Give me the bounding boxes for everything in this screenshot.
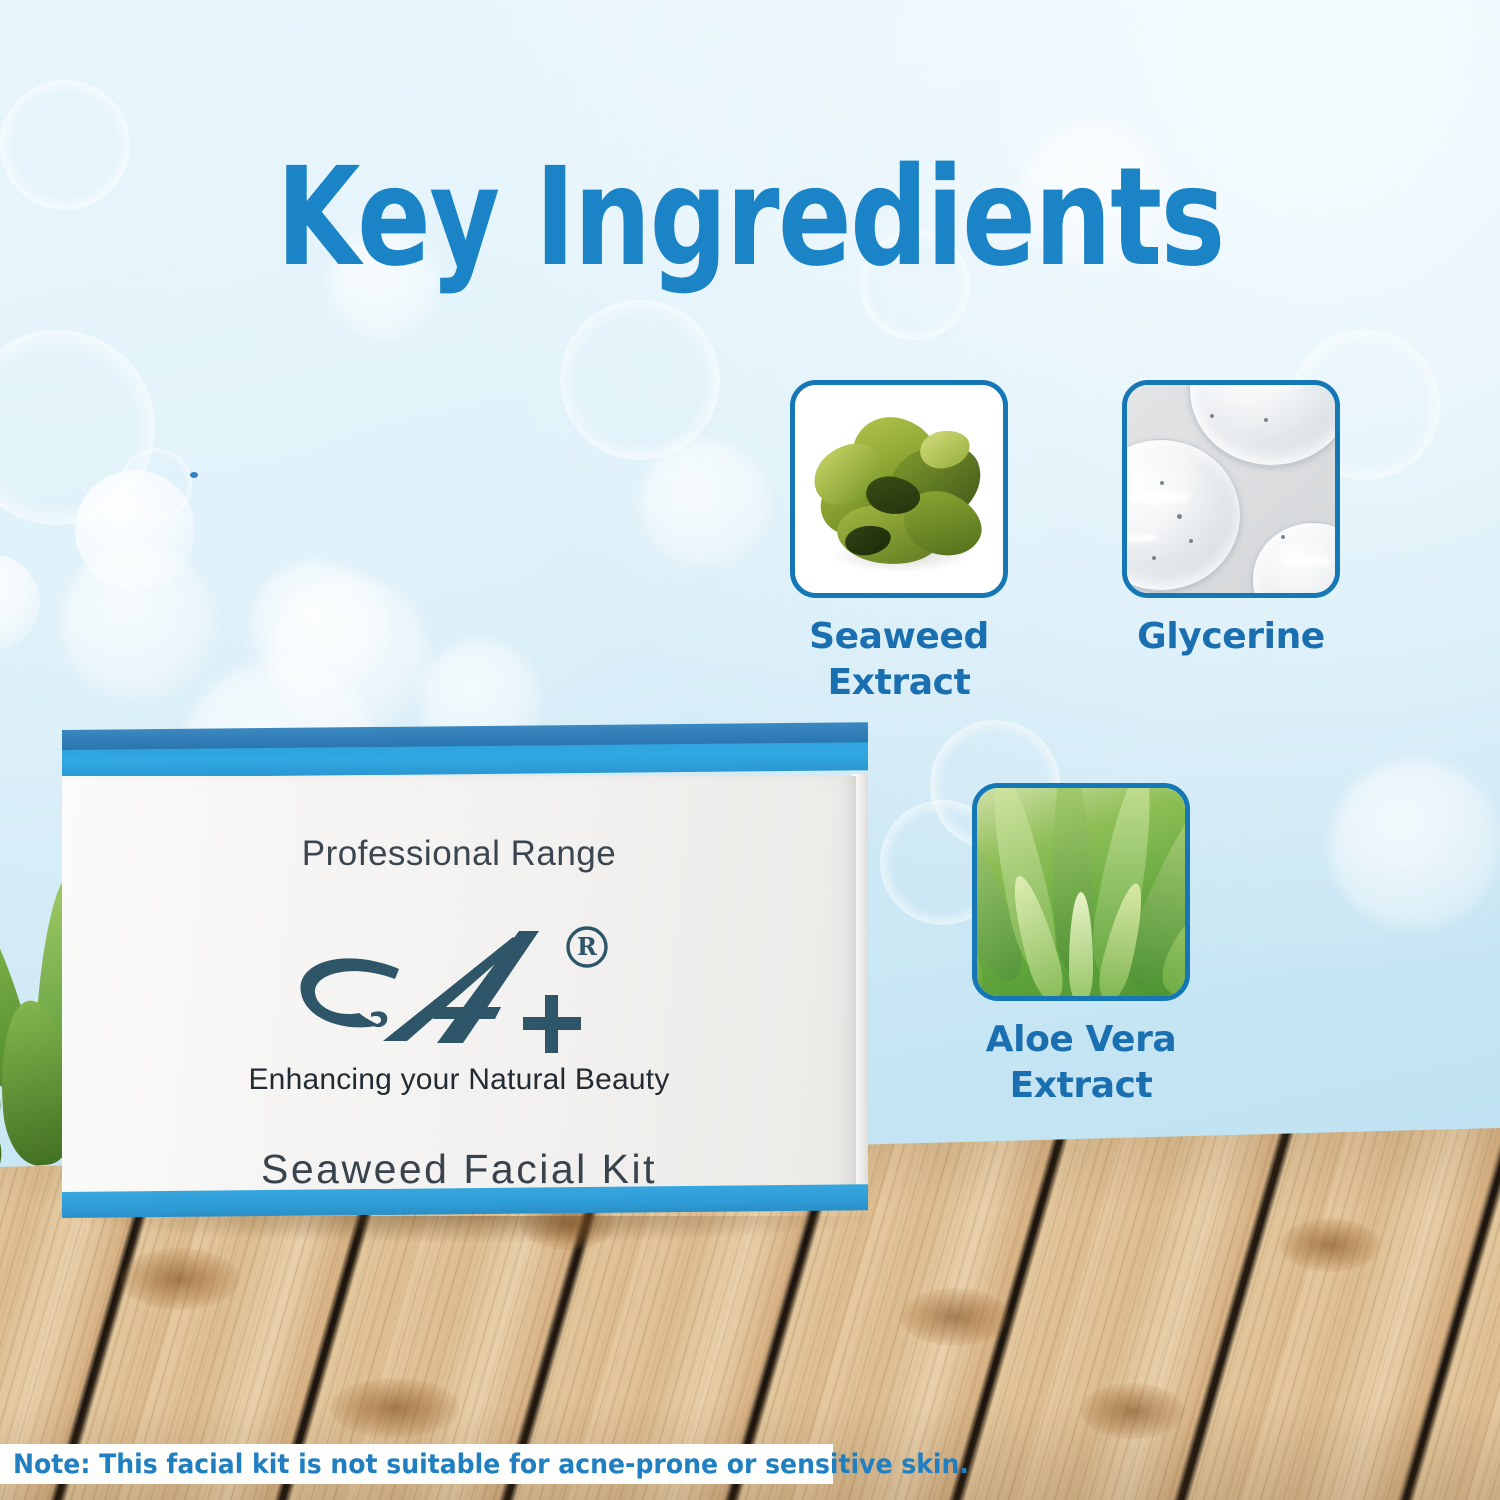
box-range-text: Professional Range <box>62 834 856 874</box>
blue-dot-artifact <box>190 472 198 478</box>
seaweed-photo-icon <box>790 380 1008 598</box>
ingredient-label-seaweed: Seaweed Extract <box>790 614 1008 706</box>
ingredient-card-seaweed[interactable]: Seaweed Extract <box>790 380 1008 706</box>
page-title: Key Ingredients <box>150 150 1350 286</box>
glycerine-photo-icon <box>1122 380 1340 598</box>
aloe-vera-photo-icon <box>972 783 1190 1001</box>
product-infographic: Key Ingredients <box>0 0 1500 1500</box>
box-product-name: Seaweed Facial Kit <box>62 1146 856 1193</box>
note-text: Note: This facial kit is not suitable fo… <box>0 1449 969 1480</box>
svg-text:R: R <box>577 932 598 961</box>
note-banner: Note: This facial kit is not suitable fo… <box>0 1444 833 1484</box>
brand-logo-icon: R <box>287 921 637 1056</box>
box-shadow <box>82 1216 872 1242</box>
box-tagline-text: Enhancing your Natural Beauty <box>62 1063 856 1097</box>
ingredient-card-aloe-vera[interactable]: Aloe Vera Extract <box>972 783 1190 1109</box>
ingredient-card-glycerine[interactable]: Glycerine <box>1122 380 1340 660</box>
ingredient-label-aloe-vera: Aloe Vera Extract <box>972 1017 1190 1109</box>
ingredient-label-glycerine: Glycerine <box>1122 614 1340 660</box>
product-box[interactable]: Professional Range <box>62 730 868 1220</box>
box-label: Professional Range <box>62 776 856 1198</box>
